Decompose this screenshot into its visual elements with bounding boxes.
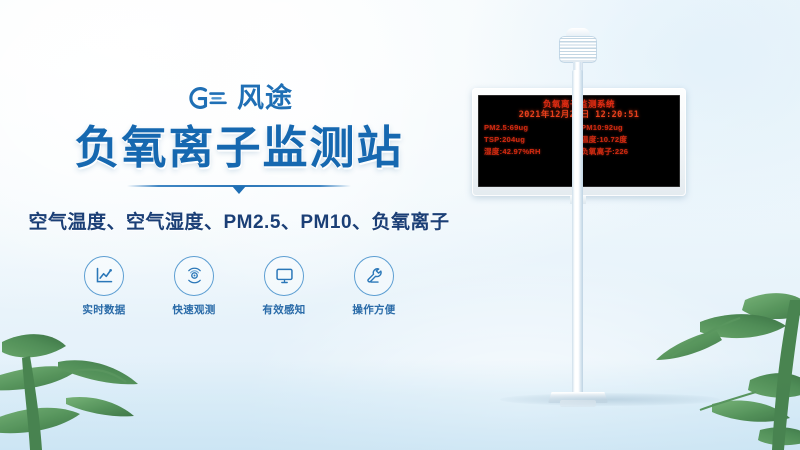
led-reading-humidity: 湿度:42.97%RH	[484, 147, 577, 157]
line-chart-icon	[84, 256, 124, 296]
led-reading-temperature: 温度:10.72度	[581, 135, 674, 145]
promo-banner: 风途 负氧离子监测站 空气温度、空气湿度、PM2.5、PM10、负氧离子 实时数…	[0, 0, 800, 450]
feature-item-realtime-data: 实时数据	[75, 256, 133, 317]
feature-label: 有效感知	[255, 302, 313, 317]
feature-item-effective-sensing: 有效感知	[255, 256, 313, 317]
divider-triangle-icon	[232, 186, 246, 194]
feature-list: 实时数据 快速观测	[0, 256, 478, 317]
hero-text-column: 风途 负氧离子监测站 空气温度、空气湿度、PM2.5、PM10、负氧离子 实时数…	[0, 78, 478, 317]
page-title: 负氧离子监测站	[0, 124, 478, 173]
wrench-icon	[354, 256, 394, 296]
led-reading-pm25: PM2.5:69ug	[484, 123, 577, 133]
monitoring-station: 负氧离子监测系统 2021年12月22日 12:20:51 PM2.5:69ug…	[452, 10, 752, 440]
feature-item-easy-operation: 操作方便	[345, 256, 403, 317]
feature-item-fast-observation: 快速观测	[165, 256, 223, 317]
title-divider	[127, 183, 351, 195]
wind-route-g-logo-icon	[185, 83, 229, 113]
station-pole	[572, 70, 583, 400]
feature-label: 操作方便	[345, 302, 403, 317]
led-reading-negative-ion: 负氧离子:226	[581, 147, 674, 157]
pole-ground-shadow	[500, 393, 720, 406]
led-reading-pm10: PM10:92ug	[581, 123, 674, 133]
led-reading-tsp: TSP:204ug	[484, 135, 577, 145]
brand-name: 风途	[237, 85, 293, 112]
sensor-louvers	[559, 36, 597, 63]
page-subtitle: 空气温度、空气湿度、PM2.5、PM10、负氧离子	[0, 207, 478, 234]
feature-label: 快速观测	[165, 302, 223, 317]
feature-label: 实时数据	[75, 302, 133, 317]
brand-logo: 风途	[0, 78, 478, 118]
radar-scan-icon	[174, 256, 214, 296]
monitor-icon	[264, 256, 304, 296]
